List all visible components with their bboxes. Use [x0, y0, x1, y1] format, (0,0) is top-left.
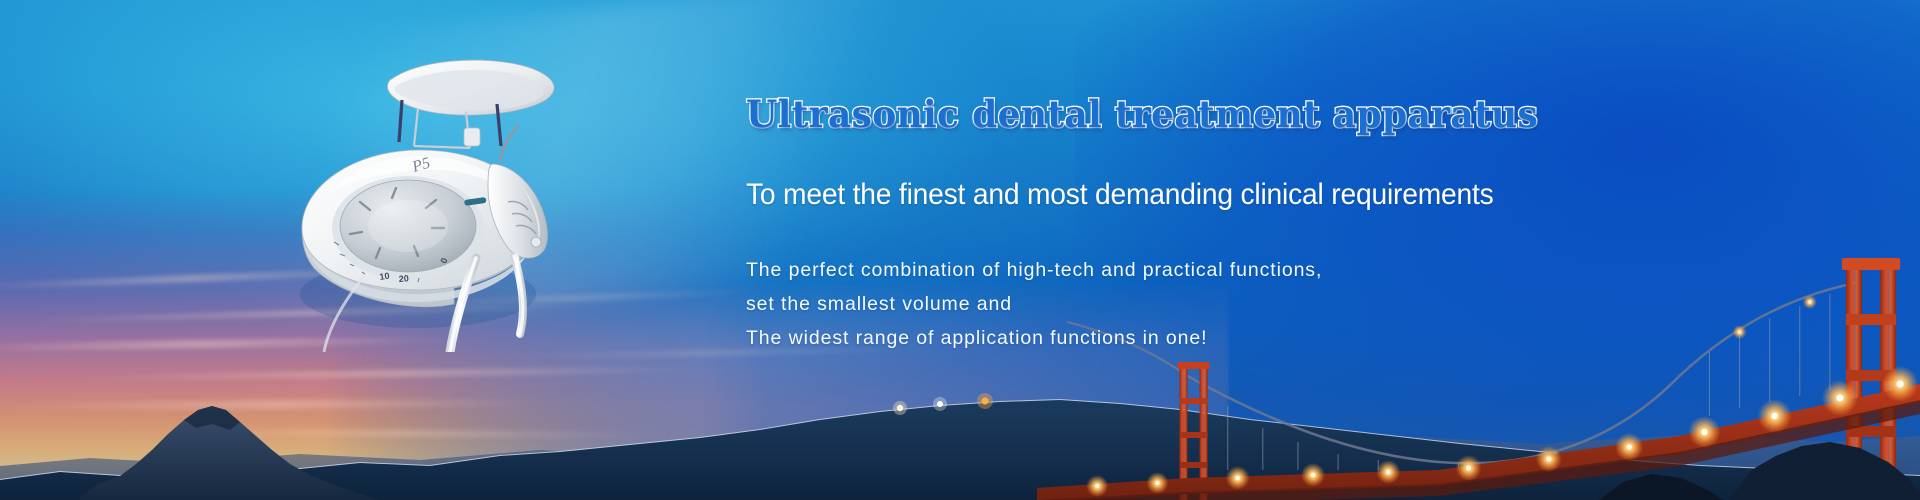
product-dial: [332, 176, 484, 280]
banner-copy: Ultrasonic dental treatment apparatus To…: [746, 96, 1756, 355]
promo-banner: 10 20 0 P5: [0, 0, 1920, 500]
rocky-hill: [80, 380, 380, 500]
banner-body-copy: The perfect combination of high-tech and…: [746, 253, 1756, 355]
body-line: set the smallest volume and: [746, 287, 1756, 321]
product-image: 10 20 0 P5: [268, 42, 598, 352]
product-canopy: [387, 60, 554, 115]
dial-label-20: 20: [398, 273, 409, 284]
dial-label-10: 10: [379, 271, 390, 282]
body-line: The perfect combination of high-tech and…: [746, 253, 1756, 287]
banner-subheadline: To meet the finest and most demanding cl…: [746, 179, 1695, 211]
banner-headline: Ultrasonic dental treatment apparatus: [746, 96, 1726, 133]
foreground-rock: [1599, 474, 1723, 500]
body-line: The widest range of application function…: [746, 321, 1756, 355]
